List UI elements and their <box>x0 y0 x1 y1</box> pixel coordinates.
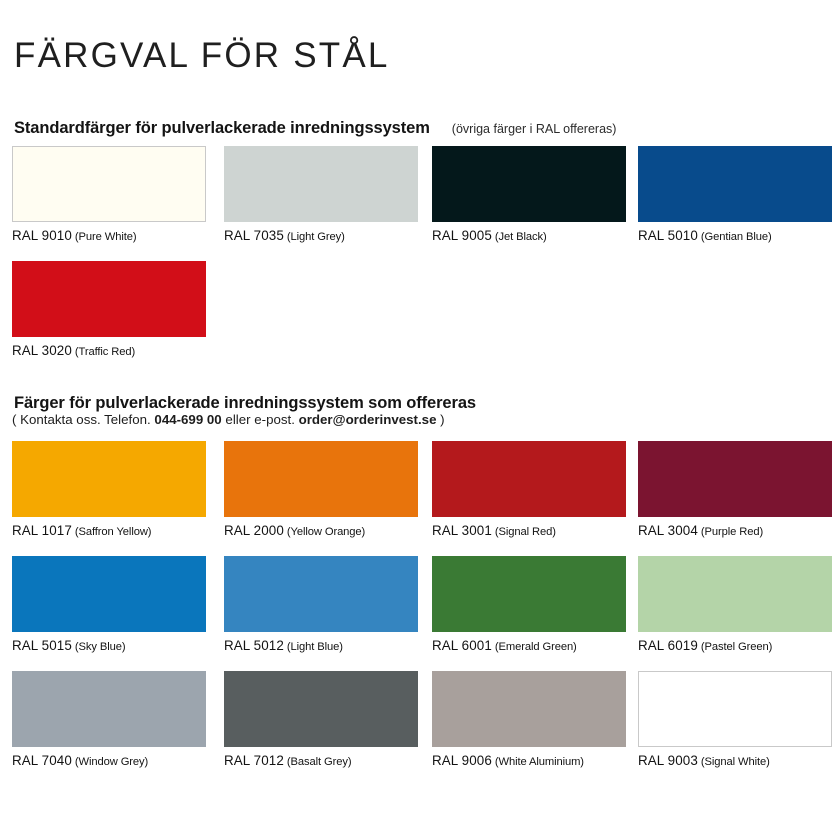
swatch-label: RAL 9003(Signal White) <box>638 753 840 769</box>
swatch-code: RAL 5015 <box>12 638 72 653</box>
swatch-code: RAL 3004 <box>638 523 698 538</box>
swatch-name: (Light Grey) <box>287 231 345 243</box>
swatch-label: RAL 6019(Pastel Green) <box>638 638 840 654</box>
swatch-name: (White Aluminium) <box>495 756 584 768</box>
color-swatch-ral-7035[interactable] <box>224 146 418 222</box>
page-title: FÄRGVAL FÖR STÅL <box>14 38 390 73</box>
swatch-name: (Basalt Grey) <box>287 756 352 768</box>
color-chart-page: FÄRGVAL FÖR STÅL Standardfärger för pulv… <box>0 0 840 840</box>
section-heading-standard-text: Standardfärger för pulverlackerade inred… <box>14 119 430 137</box>
swatch-code: RAL 1017 <box>12 523 72 538</box>
section-heading-standard: Standardfärger för pulverlackerade inred… <box>14 120 616 137</box>
swatch-name: (Light Blue) <box>287 641 343 653</box>
contact-open: ( Kontakta oss. Telefon. <box>12 412 151 427</box>
color-swatch-ral-3001[interactable] <box>432 441 626 517</box>
section-heading-offered-text: Färger för pulverlackerade inredningssys… <box>14 394 476 412</box>
swatch-code: RAL 7012 <box>224 753 284 768</box>
color-swatch-ral-3004[interactable] <box>638 441 832 517</box>
swatch-code: RAL 9010 <box>12 228 72 243</box>
swatch-name: (Gentian Blue) <box>701 231 772 243</box>
color-swatch-ral-9010[interactable] <box>12 146 206 222</box>
swatch-name: (Purple Red) <box>701 526 763 538</box>
swatch-code: RAL 6001 <box>432 638 492 653</box>
swatch-code: RAL 7035 <box>224 228 284 243</box>
swatch-code: RAL 2000 <box>224 523 284 538</box>
swatch-name: (Window Grey) <box>75 756 148 768</box>
color-swatch-ral-9003[interactable] <box>638 671 832 747</box>
color-swatch-ral-9005[interactable] <box>432 146 626 222</box>
swatch-name: (Sky Blue) <box>75 641 126 653</box>
color-swatch-ral-5010[interactable] <box>638 146 832 222</box>
contact-phone: 044-699 00 <box>154 412 221 427</box>
contact-email[interactable]: order@orderinvest.se <box>299 412 437 427</box>
section-heading-standard-note: (övriga färger i RAL offereras) <box>452 122 617 136</box>
color-swatch-ral-9006[interactable] <box>432 671 626 747</box>
swatch-label: RAL 5015(Sky Blue) <box>12 638 242 654</box>
swatch-name: (Yellow Orange) <box>287 526 365 538</box>
swatch-code: RAL 9003 <box>638 753 698 768</box>
swatch-label: RAL 9010(Pure White) <box>12 228 242 244</box>
color-swatch-ral-6019[interactable] <box>638 556 832 632</box>
swatch-name: (Pastel Green) <box>701 641 772 653</box>
swatch-label: RAL 7040(Window Grey) <box>12 753 242 769</box>
swatch-label: RAL 5010(Gentian Blue) <box>638 228 840 244</box>
color-swatch-ral-7012[interactable] <box>224 671 418 747</box>
swatch-label: RAL 7035(Light Grey) <box>224 228 454 244</box>
swatch-code: RAL 7040 <box>12 753 72 768</box>
color-swatch-ral-5015[interactable] <box>12 556 206 632</box>
color-swatch-ral-7040[interactable] <box>12 671 206 747</box>
color-swatch-ral-2000[interactable] <box>224 441 418 517</box>
swatch-name: (Traffic Red) <box>75 346 135 358</box>
swatch-label: RAL 2000(Yellow Orange) <box>224 523 454 539</box>
swatch-label: RAL 7012(Basalt Grey) <box>224 753 454 769</box>
swatch-code: RAL 9006 <box>432 753 492 768</box>
swatch-name: (Saffron Yellow) <box>75 526 152 538</box>
swatch-code: RAL 6019 <box>638 638 698 653</box>
swatch-code: RAL 9005 <box>432 228 492 243</box>
color-swatch-ral-5012[interactable] <box>224 556 418 632</box>
swatch-label: RAL 5012(Light Blue) <box>224 638 454 654</box>
swatch-name: (Pure White) <box>75 231 137 243</box>
swatch-label: RAL 3020(Traffic Red) <box>12 343 242 359</box>
color-swatch-ral-3020[interactable] <box>12 261 206 337</box>
swatch-label: RAL 9005(Jet Black) <box>432 228 662 244</box>
swatch-label: RAL 9006(White Aluminium) <box>432 753 662 769</box>
swatch-code: RAL 5012 <box>224 638 284 653</box>
swatch-name: (Emerald Green) <box>495 641 577 653</box>
swatch-label: RAL 3004(Purple Red) <box>638 523 840 539</box>
swatch-label: RAL 3001(Signal Red) <box>432 523 662 539</box>
swatch-name: (Jet Black) <box>495 231 547 243</box>
swatch-code: RAL 3001 <box>432 523 492 538</box>
swatch-name: (Signal Red) <box>495 526 556 538</box>
contact-line: ( Kontakta oss. Telefon. 044-699 00 elle… <box>12 413 445 426</box>
contact-close: ) <box>440 412 444 427</box>
swatch-label: RAL 6001(Emerald Green) <box>432 638 662 654</box>
section-heading-offered: Färger för pulverlackerade inredningssys… <box>14 395 476 412</box>
swatch-code: RAL 5010 <box>638 228 698 243</box>
swatch-code: RAL 3020 <box>12 343 72 358</box>
contact-middle: eller e-post. <box>225 412 294 427</box>
color-swatch-ral-1017[interactable] <box>12 441 206 517</box>
swatch-name: (Signal White) <box>701 756 770 768</box>
swatch-label: RAL 1017(Saffron Yellow) <box>12 523 242 539</box>
color-swatch-ral-6001[interactable] <box>432 556 626 632</box>
